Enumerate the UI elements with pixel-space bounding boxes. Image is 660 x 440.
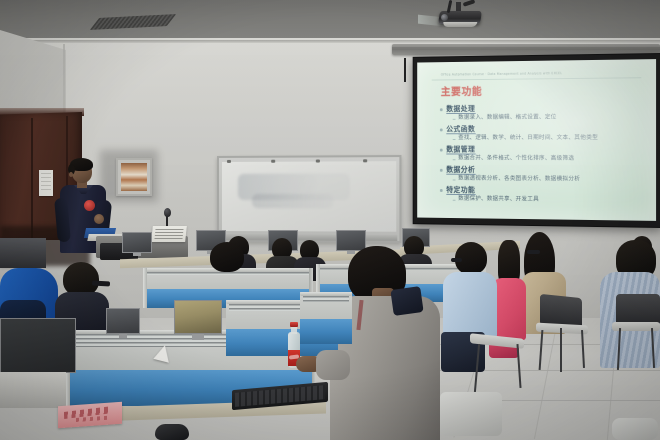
projector-lens-icon: [441, 14, 448, 21]
partition-lower-panel: [300, 319, 352, 344]
screen-housing-shadow: [392, 47, 660, 50]
whiteboard-surface: [222, 161, 396, 232]
whiteboard-clip: [363, 159, 367, 162]
whiteboard-clip: [316, 159, 320, 162]
whiteboard-clip: [271, 160, 275, 163]
projection-screen: Office Automation Course · Data Manageme…: [413, 53, 660, 228]
cabinet-door-seam: [31, 118, 33, 238]
classroom-photo: Office Automation Course · Data Manageme…: [0, 0, 660, 440]
presenter-shirt-logo: [84, 200, 95, 211]
whiteboard: [217, 155, 401, 243]
eyeglasses-icon: [92, 281, 110, 287]
chair-seat: [440, 392, 502, 436]
monitor-screen: [106, 308, 140, 334]
monitor-lit: [174, 300, 222, 340]
bottle-neck: [291, 326, 297, 334]
partition-edge: [143, 268, 147, 308]
chair-leg: [560, 328, 562, 372]
monitor-screen: [122, 232, 152, 253]
monitor: [106, 308, 140, 338]
printed-handout: [151, 226, 187, 242]
microphone-icon: [164, 208, 171, 217]
artwork-canvas: [121, 163, 147, 191]
monitor-stand: [192, 334, 204, 340]
eyeglasses-icon: [451, 258, 462, 262]
attendee-body-pink-shirt: [492, 278, 526, 340]
monitor-stand: [347, 251, 354, 254]
handwriting-marks: [76, 416, 108, 422]
projector-base: [443, 22, 478, 27]
attendee-collar: [390, 286, 423, 316]
presenter-hand: [94, 214, 104, 224]
partition-upper-panel: [300, 292, 352, 319]
handout-text-lines: [154, 229, 183, 239]
monitor-screen: [336, 230, 366, 251]
partition-rail: [300, 292, 352, 296]
attendee-head: [63, 262, 99, 296]
screen-glare: [417, 59, 656, 221]
monitor-stand: [119, 334, 127, 338]
eyeglasses-icon: [527, 250, 540, 254]
notice-text-lines: [41, 173, 51, 191]
presenter-ear: [69, 172, 73, 177]
chair-seat: [612, 418, 658, 440]
partition-louvers: [146, 272, 310, 275]
bottle-cap: [290, 322, 298, 327]
equipment-box: [0, 238, 46, 268]
monitor-screen: [174, 300, 222, 334]
whiteboard-erased-marks: [252, 194, 333, 208]
cabinet-paper-notice: [39, 170, 53, 196]
framed-wall-artwork: [116, 158, 152, 196]
projection-screen-surface: Office Automation Course · Data Manageme…: [417, 59, 656, 221]
attendee-body-light-blue-shirt: [443, 272, 497, 338]
partition-louvers: [303, 296, 349, 302]
computer-mouse[interactable]: [155, 424, 189, 440]
monitor-screen: [0, 318, 76, 373]
monitor-stand: [133, 253, 140, 256]
attendee-sleeve: [316, 350, 350, 380]
monitor-base: [0, 372, 66, 408]
pink-desk-label: [58, 402, 122, 428]
desk-partition: [300, 292, 352, 344]
attendee-head: [210, 242, 244, 272]
screen-cord: [404, 58, 406, 82]
monitor: [122, 232, 152, 256]
ceiling-wall-seam: [0, 40, 660, 43]
whiteboard-clip: [227, 160, 231, 163]
